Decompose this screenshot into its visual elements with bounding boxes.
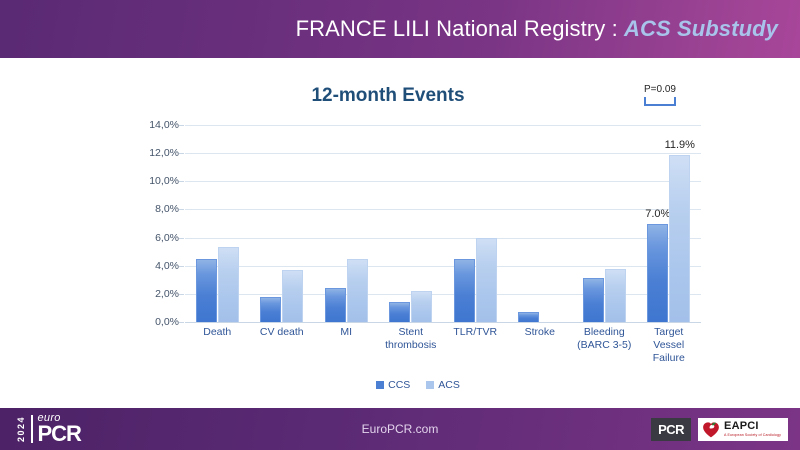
chart-legend: CCSACS [18, 379, 800, 391]
x-axis-category-label: CV death [250, 326, 315, 365]
bar-ccs[interactable] [389, 302, 410, 322]
footer-logos: PCR EAPCI A European Society of Cardiolo… [651, 408, 788, 450]
bar-acs[interactable] [347, 259, 368, 322]
bar-ccs[interactable] [325, 288, 346, 322]
bar-group: 7.0%11.9% [637, 125, 702, 322]
footer-website-text: EuroPCR.com [362, 422, 439, 436]
y-axis-tick-label: 8,0% [135, 203, 179, 215]
y-axis-tick-mark [179, 294, 184, 295]
x-axis-category-line: Bleeding [572, 326, 637, 339]
bar-ccs[interactable]: 7.0% [647, 224, 668, 323]
x-axis-category-line: (BARC 3-5) [572, 339, 637, 352]
bar-acs[interactable] [476, 238, 497, 322]
bar-ccs[interactable] [583, 278, 604, 322]
x-axis-category-line: Target [637, 326, 702, 339]
pcr-badge-text: PCR [658, 422, 684, 437]
x-axis-category-line: Failure [637, 352, 702, 365]
page-title: FRANCE LILI National Registry : ACS Subs… [296, 16, 778, 42]
legend-swatch [426, 381, 434, 389]
bar-ccs[interactable] [518, 312, 539, 322]
slide-header: FRANCE LILI National Registry : ACS Subs… [0, 0, 800, 58]
bar-acs[interactable] [218, 247, 239, 322]
legend-label: CCS [388, 379, 410, 391]
significance-bracket-icon [644, 97, 676, 106]
slide-footer: 2024 euro PCR EuroPCR.com PCR EAPCI A Eu… [0, 408, 800, 450]
y-axis-tick-mark [179, 125, 184, 126]
x-axis-category-line: TLR/TVR [443, 326, 508, 339]
x-axis-category-label: Bleeding(BARC 3-5) [572, 326, 637, 365]
bar-ccs[interactable] [454, 259, 475, 322]
y-axis-tick-label: 12,0% [135, 147, 179, 159]
y-axis-tick-mark [179, 322, 184, 323]
bar-group [508, 125, 573, 322]
y-axis-tick-mark [179, 266, 184, 267]
pcr-badge: PCR [651, 418, 691, 441]
x-axis-category-line: MI [314, 326, 379, 339]
x-axis-category-label: Death [185, 326, 250, 365]
page-title-subtitle: ACS Substudy [624, 16, 778, 41]
bar-groups: 7.0%11.9% [185, 125, 701, 322]
y-axis-tick-label: 2,0% [135, 288, 179, 300]
legend-swatch [376, 381, 384, 389]
bar-group [314, 125, 379, 322]
bar-acs[interactable] [605, 269, 626, 322]
legend-item[interactable]: ACS [426, 379, 460, 391]
bar-group [250, 125, 315, 322]
bar-acs[interactable] [411, 291, 432, 322]
x-axis-line [185, 322, 701, 323]
legend-item[interactable]: CCS [376, 379, 410, 391]
x-axis-category-label: MI [314, 326, 379, 365]
bar-group [185, 125, 250, 322]
y-axis-tick-label: 14,0% [135, 119, 179, 131]
bar-value-label: 7.0% [645, 208, 670, 220]
y-axis-tick-mark [179, 209, 184, 210]
y-axis-tick-label: 4,0% [135, 260, 179, 272]
bar-acs[interactable] [282, 270, 303, 322]
bar-ccs[interactable] [196, 259, 217, 322]
y-axis-tick-mark [179, 181, 184, 182]
eapci-tagline: A European Society of Cardiology [724, 434, 781, 438]
bar-group [379, 125, 444, 322]
x-axis-category-line: Stent [379, 326, 444, 339]
x-axis-category-line: CV death [250, 326, 315, 339]
eapci-name: EAPCI [724, 421, 781, 432]
chart-title-text: 12-month Events [311, 85, 464, 107]
y-axis-tick-label: 10,0% [135, 175, 179, 187]
eapci-text-block: EAPCI A European Society of Cardiology [724, 421, 781, 438]
y-axis-tick-mark [179, 153, 184, 154]
x-axis-category-label: Stentthrombosis [379, 326, 444, 365]
x-axis-category-line: Vessel [637, 339, 702, 352]
heart-icon [702, 421, 720, 438]
x-axis-category-line: thrombosis [379, 339, 444, 352]
eapci-logo: EAPCI A European Society of Cardiology [698, 418, 788, 441]
bar-value-label: 11.9% [665, 139, 695, 151]
y-axis-tick-mark [179, 238, 184, 239]
y-axis-tick-label: 0,0% [135, 316, 179, 328]
p-value-label: P=0.09 [625, 84, 695, 95]
bar-acs[interactable]: 11.9% [669, 155, 690, 322]
page-title-main: FRANCE LILI National Registry : [296, 16, 624, 41]
x-axis-category-line: Stroke [508, 326, 573, 339]
legend-label: ACS [438, 379, 460, 391]
slide-body: 12-month Events 14,0%12,0%10,0%8,0%6,0%4… [0, 58, 800, 408]
x-axis-category-label: Stroke [508, 326, 573, 365]
bar-group [572, 125, 637, 322]
y-axis-tick-label: 6,0% [135, 232, 179, 244]
bar-group [443, 125, 508, 322]
x-axis-category-label: TargetVesselFailure [637, 326, 702, 365]
x-axis-categories: DeathCV deathMIStentthrombosisTLR/TVRStr… [185, 326, 701, 365]
x-axis-category-label: TLR/TVR [443, 326, 508, 365]
bar-ccs[interactable] [260, 297, 281, 322]
significance-annotation: P=0.09 [625, 84, 695, 106]
y-axis: 14,0%12,0%10,0%8,0%6,0%4,0%2,0%0,0% [133, 125, 179, 322]
x-axis-category-line: Death [185, 326, 250, 339]
